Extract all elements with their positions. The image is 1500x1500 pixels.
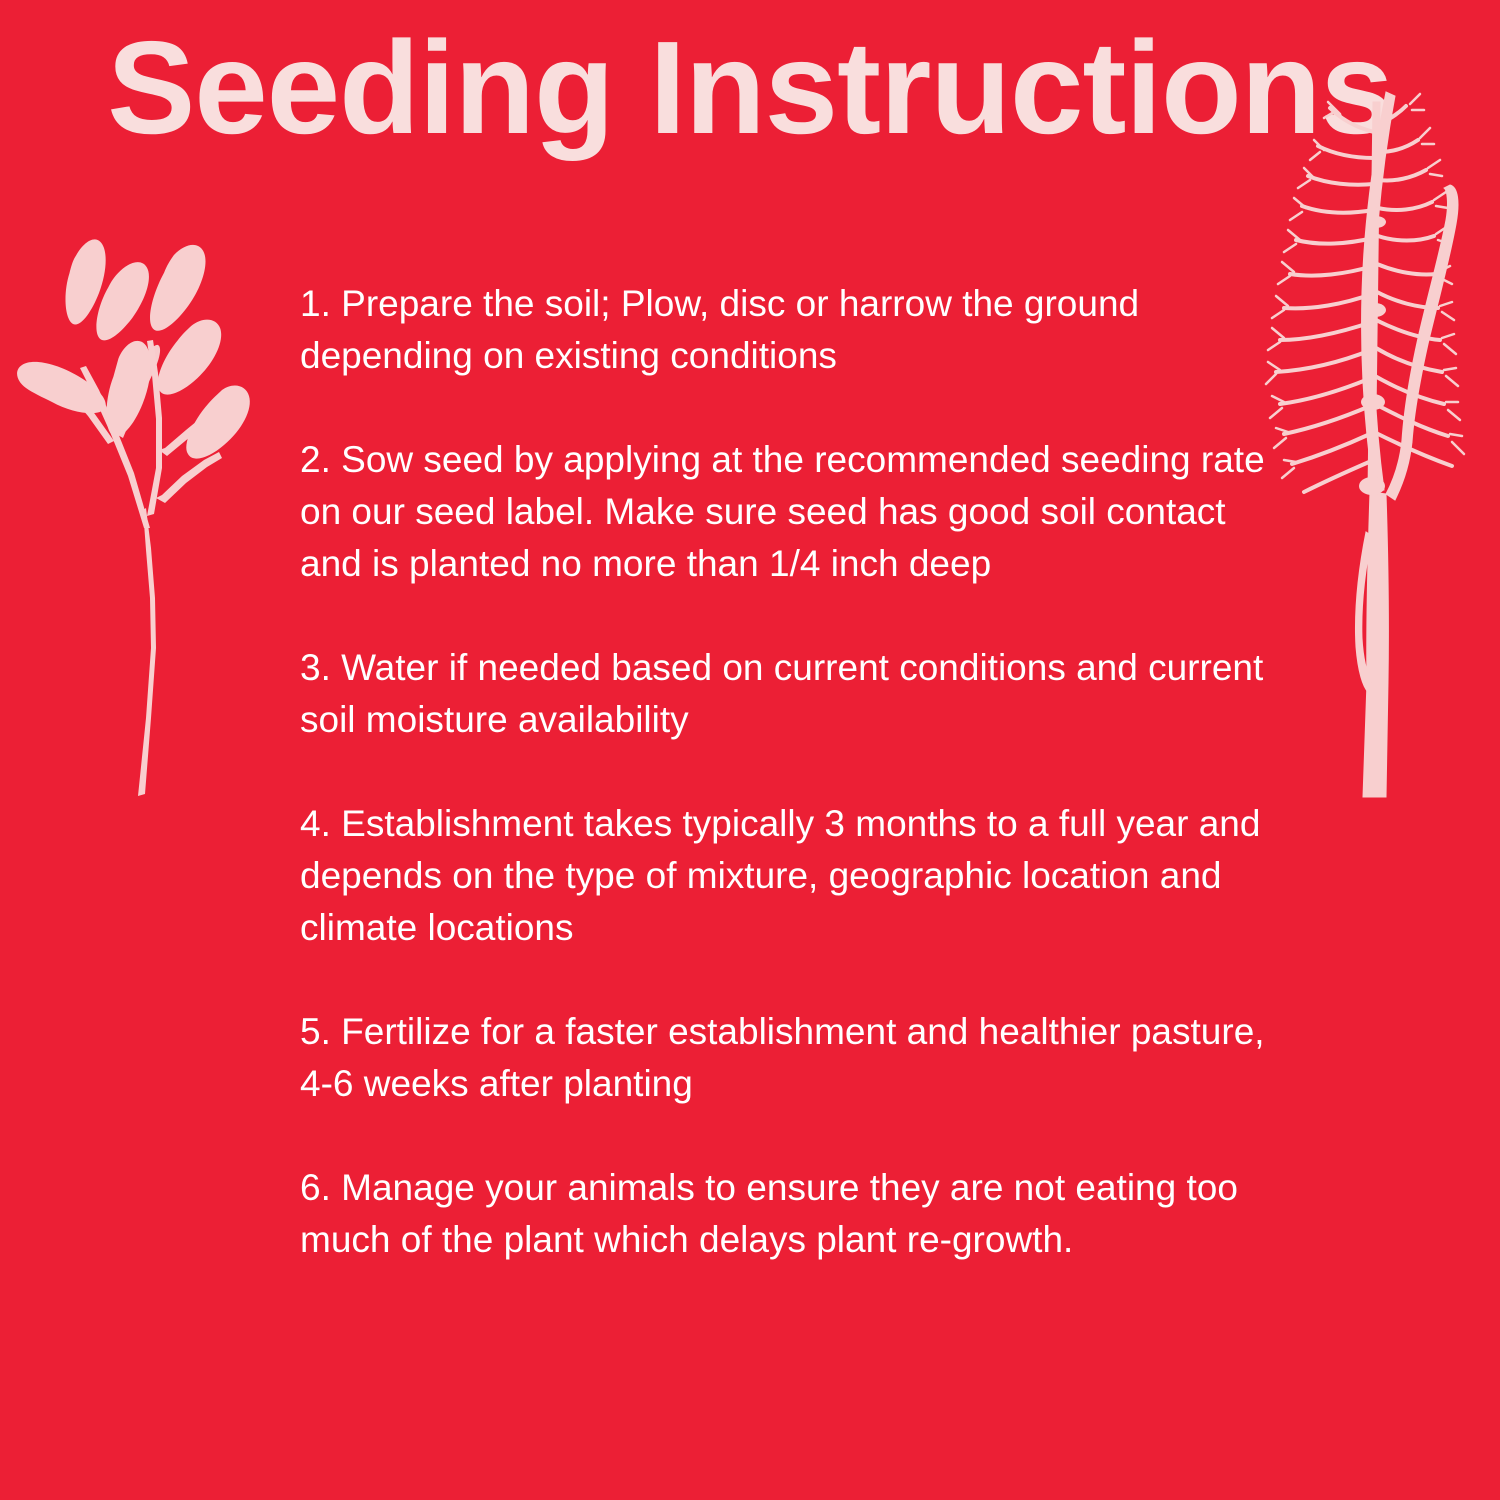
seed-pod-branch-icon: [4, 198, 304, 798]
list-item: 4. Establishment takes typically 3 month…: [300, 798, 1280, 954]
instruction-list: 1. Prepare the soil; Plow, disc or harro…: [300, 278, 1280, 1266]
feathery-grass-icon: [1262, 62, 1500, 802]
list-item: 6. Manage your animals to ensure they ar…: [300, 1162, 1280, 1266]
list-item: 3. Water if needed based on current cond…: [300, 642, 1280, 746]
page-title: Seeding Instructions: [0, 22, 1500, 154]
list-item: 1. Prepare the soil; Plow, disc or harro…: [300, 278, 1280, 382]
list-item: 2. Sow seed by applying at the recommend…: [300, 434, 1280, 590]
list-item: 5. Fertilize for a faster establishment …: [300, 1006, 1280, 1110]
poster-canvas: Seeding Instructions: [0, 0, 1500, 1500]
